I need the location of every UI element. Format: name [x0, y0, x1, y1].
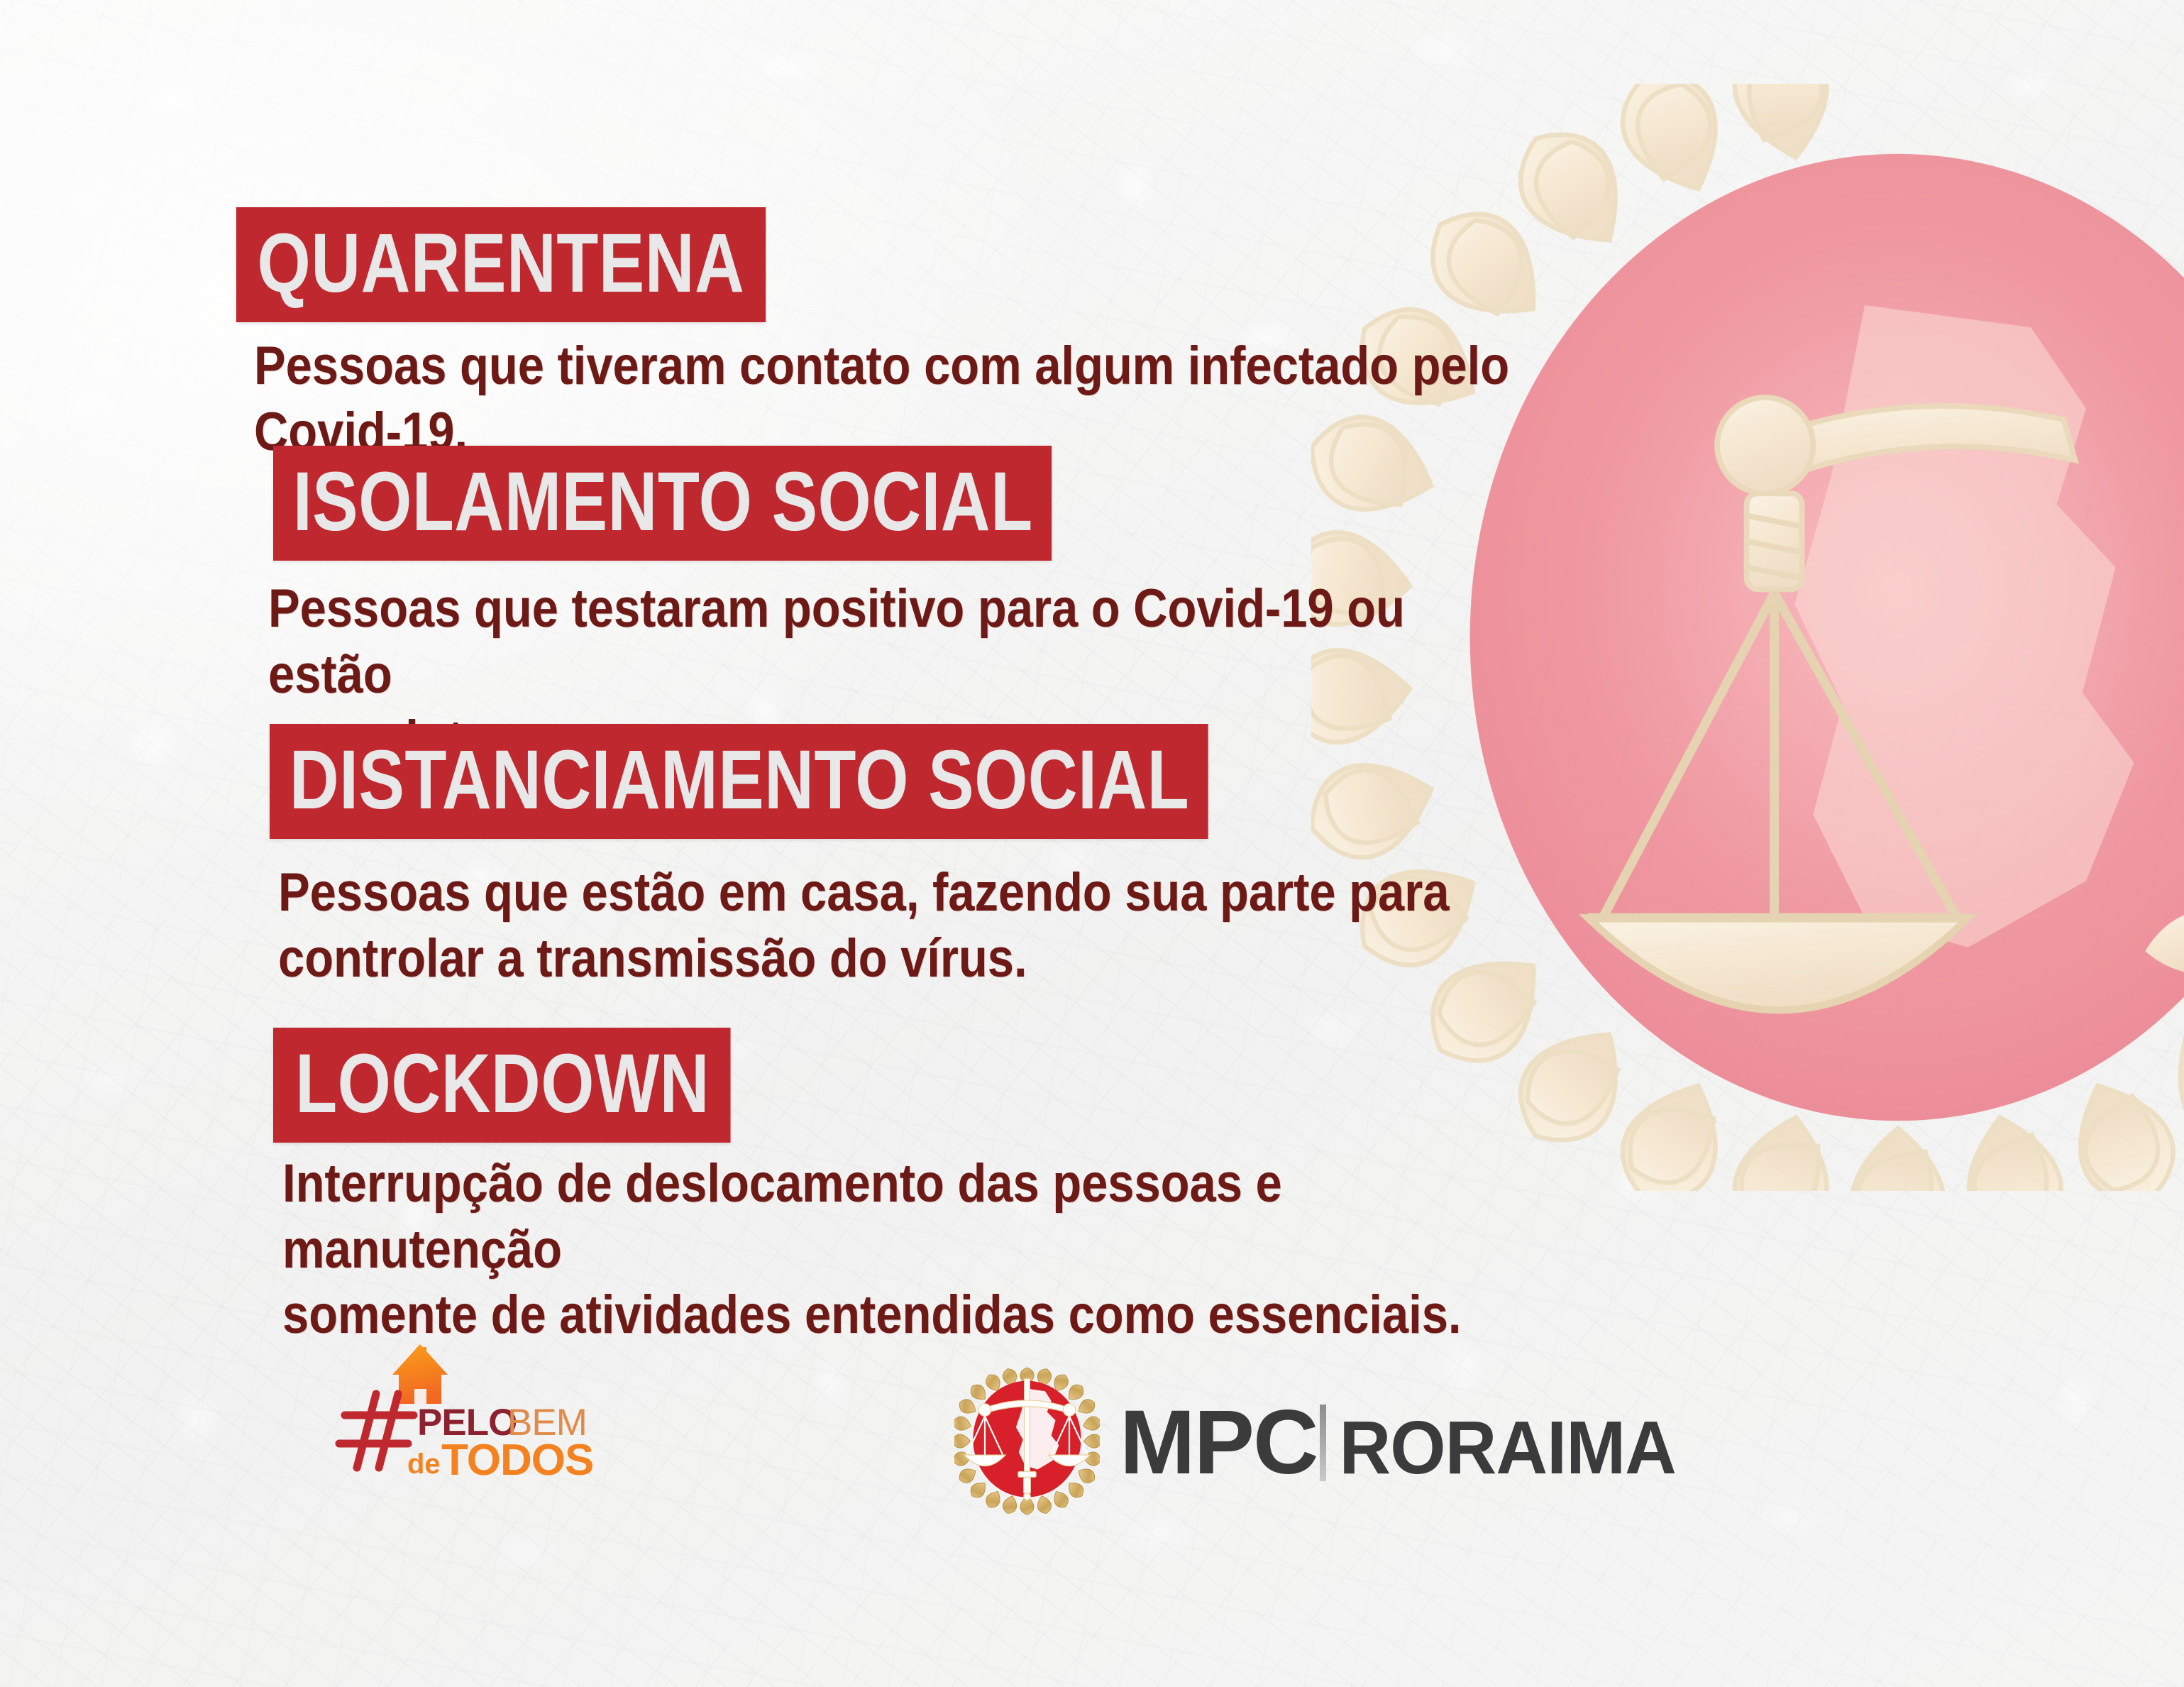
mpc-acronym: MPC	[1120, 1397, 1317, 1488]
section-banner-isolamento-social: ISOLAMENTO SOCIAL	[273, 446, 1223, 561]
pelobem-word-de: de	[407, 1449, 441, 1480]
section-body-distanciamento-social: Pessoas que estão em casa, fazendo sua p…	[278, 860, 1449, 991]
section-banner-distanciamento-social: DISTANCIAMENTO SOCIAL	[270, 724, 1414, 839]
pelobem-word-todos: TODOS	[441, 1436, 593, 1485]
banner-label-quarentena: QUARENTENA	[236, 207, 766, 322]
hashtag-icon	[339, 1394, 414, 1468]
poster-canvas: QUARENTENA Pessoas que tiveram contato c…	[0, 0, 2184, 1687]
section-banner-lockdown: LOCKDOWN	[273, 1028, 831, 1143]
banner-label-lockdown: LOCKDOWN	[273, 1028, 730, 1143]
pelobem-logo: PELO BEM de TODOS	[333, 1329, 667, 1513]
banner-label-isolamento-social: ISOLAMENTO SOCIAL	[273, 446, 1052, 561]
mpc-wordmark: MPC RORAIMA	[1120, 1397, 1685, 1488]
section-banner-quarentena: QUARENTENA	[236, 207, 882, 322]
section-body-lockdown: Interrupção de deslocamento das pessoas …	[282, 1151, 1533, 1348]
banner-label-distanciamento-social: DISTANCIAMENTO SOCIAL	[270, 724, 1208, 839]
mpc-emblem-icon	[954, 1366, 1100, 1519]
mpc-roraima-logo: MPC RORAIMA	[954, 1359, 1664, 1526]
mpc-state-name: RORAIMA	[1340, 1410, 1676, 1485]
mpc-separator-bar	[1320, 1405, 1326, 1481]
